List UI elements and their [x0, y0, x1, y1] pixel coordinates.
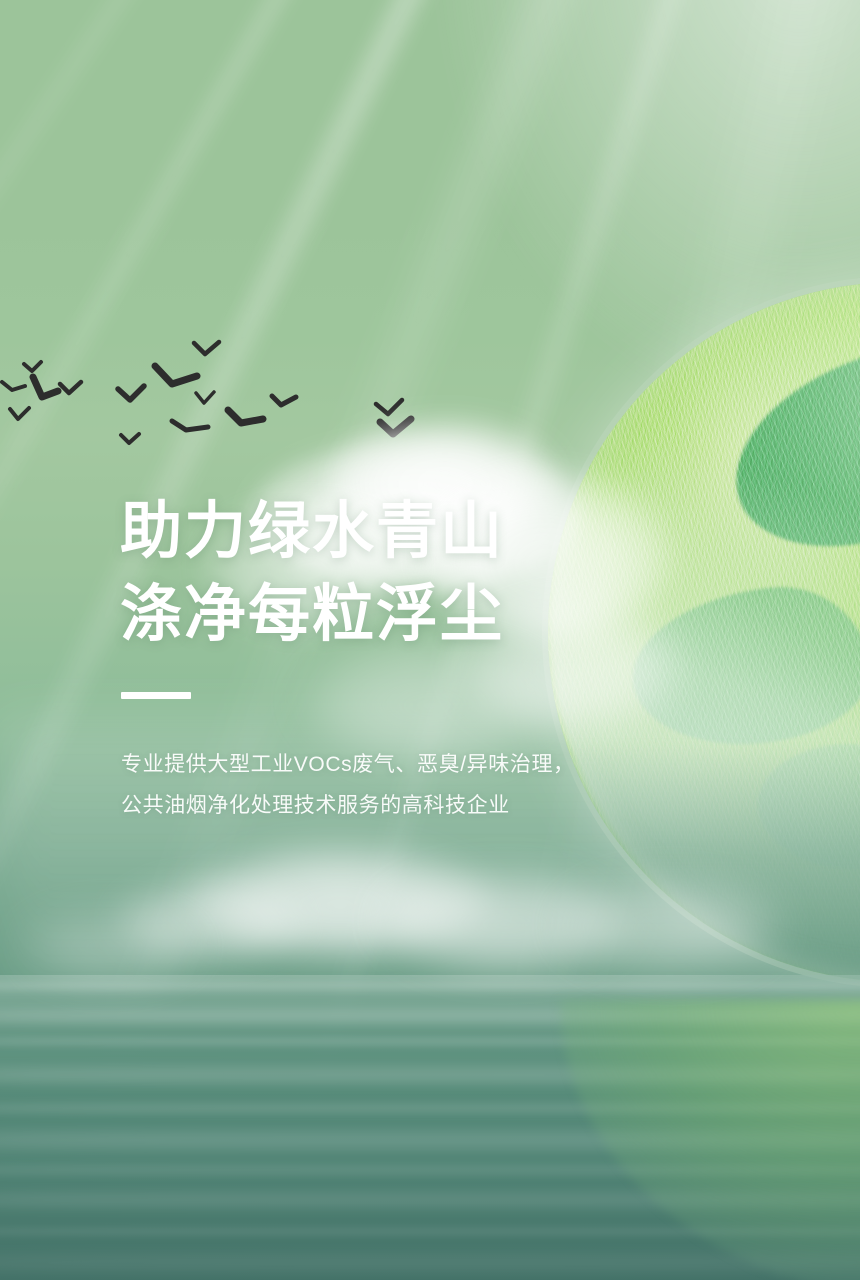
title-divider — [121, 692, 191, 699]
eco-promo-poster: 助力绿水青山 涤净每粒浮尘 专业提供大型工业VOCs废气、恶臭/异味治理， 公共… — [0, 0, 860, 1280]
subtitle-line-1: 专业提供大型工业VOCs废气、恶臭/异味治理， — [121, 745, 680, 786]
copy-block: 助力绿水青山 涤净每粒浮尘 专业提供大型工业VOCs废气、恶臭/异味治理， 公共… — [120, 490, 680, 827]
flying-birds-flock — [0, 330, 470, 460]
water-surface — [0, 975, 860, 1280]
page-title: 助力绿水青山 涤净每粒浮尘 — [120, 490, 680, 656]
headline-line-1: 助力绿水青山 — [120, 490, 680, 573]
headline-line-2: 涤净每粒浮尘 — [120, 573, 680, 656]
subtitle-line-2: 公共油烟净化处理技术服务的高科技企业 — [121, 786, 680, 827]
water-depth-shade — [0, 1158, 860, 1280]
subtitle: 专业提供大型工业VOCs废气、恶臭/异味治理， 公共油烟净化处理技术服务的高科技… — [121, 745, 680, 827]
